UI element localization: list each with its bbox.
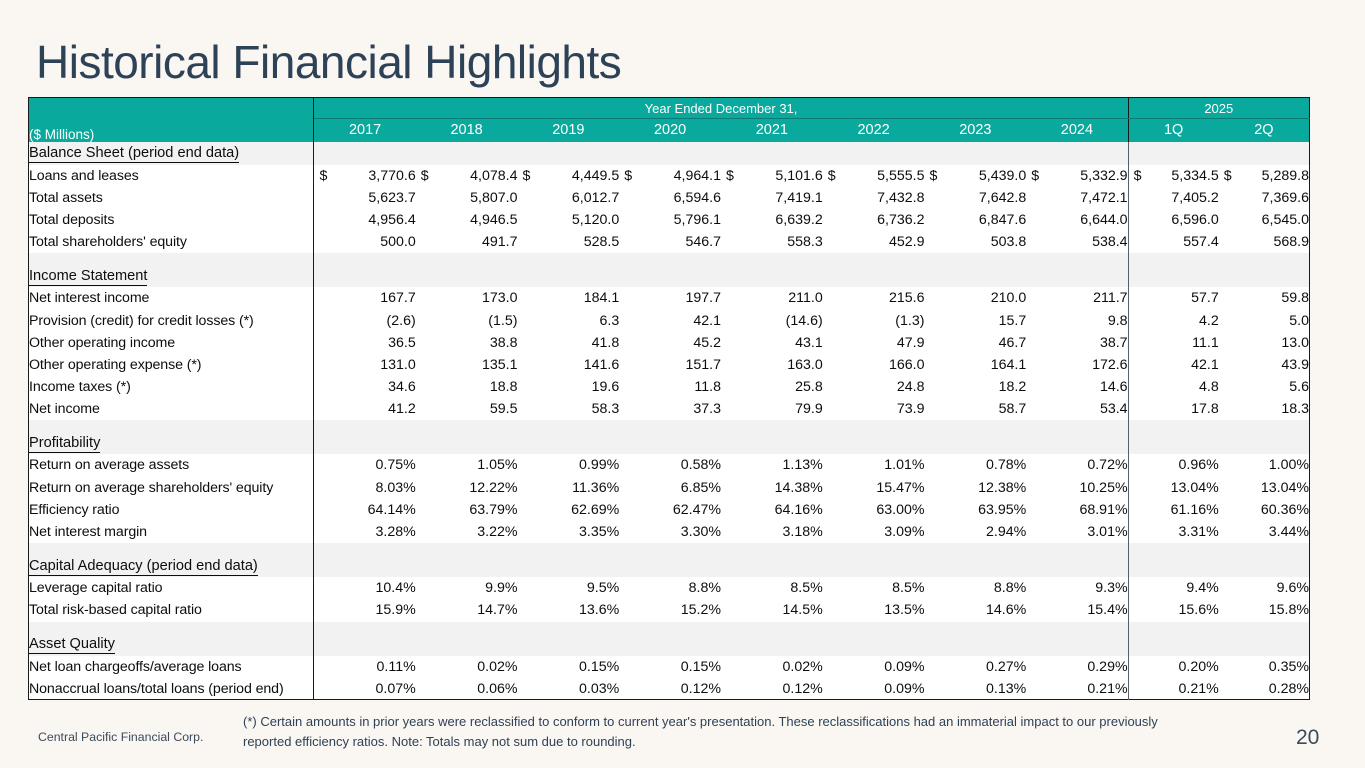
table-cell: 38.8 (416, 332, 518, 354)
currency-symbol: $ (1134, 168, 1142, 184)
table-cell: 10.25% (1026, 477, 1128, 499)
row-label: Net interest margin (29, 521, 314, 543)
row-label: Efficiency ratio (29, 499, 314, 521)
table-cell: (1.5) (416, 309, 518, 331)
table-cell: 0.02% (416, 656, 518, 678)
section-heading-cell (823, 431, 925, 454)
table-cell: 79.9 (721, 398, 823, 420)
table-cell: 0.15% (619, 656, 721, 678)
table-row: Net interest income167.7173.0184.1197.72… (29, 287, 1310, 309)
header-group-quarters: 2025 (1128, 98, 1309, 119)
section-heading-cell (1219, 431, 1310, 454)
table-cell: 43.1 (721, 332, 823, 354)
section-heading-row: Capital Adequacy (period end data) (29, 554, 1310, 577)
row-label: Total shareholders' equity (29, 231, 314, 253)
table-cell: 0.58% (619, 454, 721, 476)
section-heading-label: Income Statement (29, 264, 314, 287)
table-cell: 546.7 (619, 231, 721, 253)
table-cell: 8.8% (924, 577, 1026, 599)
section-heading-cell (619, 554, 721, 577)
table-cell: 4,946.5 (416, 209, 518, 231)
spacer-cell (1219, 622, 1310, 633)
table-cell: 14.6 (1026, 376, 1128, 398)
section-heading-cell (517, 142, 619, 165)
table-cell: 503.8 (924, 231, 1026, 253)
table-cell: 9.4% (1128, 577, 1219, 599)
table-cell: 9.8 (1026, 309, 1128, 331)
spacer-label-cell (29, 622, 314, 633)
section-heading-cell (721, 554, 823, 577)
section-heading-cell (1026, 142, 1128, 165)
spacer-cell (924, 253, 1026, 264)
financial-highlights-table: Year Ended December 31,2025 ($ Millions)… (28, 97, 1310, 700)
table-row: Total shareholders' equity500.0491.7528.… (29, 231, 1310, 253)
table-cell: 215.6 (823, 287, 925, 309)
spacer-cell (721, 622, 823, 633)
section-heading-cell (314, 142, 416, 165)
table-cell: 500.0 (314, 231, 416, 253)
table-cell: 15.7 (924, 309, 1026, 331)
table-cell: 42.1 (1128, 354, 1219, 376)
table-cell: 41.2 (314, 398, 416, 420)
spacer-cell (416, 622, 518, 633)
table-cell: 0.06% (416, 678, 518, 700)
table-cell: 1.00% (1219, 454, 1310, 476)
table-cell: 0.09% (823, 678, 925, 700)
table-cell: 538.4 (1026, 231, 1128, 253)
table-cell: 46.7 (924, 332, 1026, 354)
section-heading-cell (1128, 633, 1219, 656)
table-cell: 18.3 (1219, 398, 1310, 420)
spacer-cell (823, 543, 925, 554)
table-cell: 173.0 (416, 287, 518, 309)
section-heading-cell (314, 431, 416, 454)
table-cell: 0.09% (823, 656, 925, 678)
table-cell: 528.5 (517, 231, 619, 253)
table-cell: 2.94% (924, 521, 1026, 543)
table-cell: 15.4% (1026, 599, 1128, 621)
table-cell: 163.0 (721, 354, 823, 376)
spacer-cell (619, 253, 721, 264)
table-cell: 0.99% (517, 454, 619, 476)
table-cell: 64.16% (721, 499, 823, 521)
table-cell: 42.1 (619, 309, 721, 331)
table-cell: 4.2 (1128, 309, 1219, 331)
section-heading-label: Asset Quality (29, 633, 314, 656)
table-cell: 73.9 (823, 398, 925, 420)
table-cell: 64.14% (314, 499, 416, 521)
table-cell: 568.9 (1219, 231, 1310, 253)
header-column-row: ($ Millions)2017201820192020202120222023… (29, 119, 1310, 142)
table-cell: $5,289.8 (1219, 165, 1310, 187)
currency-symbol: $ (726, 168, 734, 184)
table-cell: 11.36% (517, 477, 619, 499)
table-row: Total assets5,623.75,807.06,012.76,594.6… (29, 187, 1310, 209)
table-cell: 8.5% (823, 577, 925, 599)
spacer-cell (517, 253, 619, 264)
table-cell: 0.21% (1026, 678, 1128, 700)
table-cell: 18.8 (416, 376, 518, 398)
table-cell: 3.09% (823, 521, 925, 543)
table-cell: 210.0 (924, 287, 1026, 309)
table-cell: 6,545.0 (1219, 209, 1310, 231)
spacer-cell (314, 253, 416, 264)
spacer-cell (1128, 622, 1219, 633)
table-row: Net interest margin3.28%3.22%3.35%3.30%3… (29, 521, 1310, 543)
spacer-cell (517, 543, 619, 554)
section-heading-cell (721, 142, 823, 165)
section-heading-cell (416, 633, 518, 656)
section-heading-cell (619, 633, 721, 656)
spacer-cell (619, 420, 721, 431)
table-cell: 0.20% (1128, 656, 1219, 678)
spacer-cell (1026, 420, 1128, 431)
table-cell: 62.69% (517, 499, 619, 521)
column-header-2018: 2018 (416, 119, 518, 142)
section-heading-cell (823, 633, 925, 656)
table-cell: 43.9 (1219, 354, 1310, 376)
section-heading-cell (924, 633, 1026, 656)
table-cell: 211.0 (721, 287, 823, 309)
currency-symbol: $ (929, 168, 937, 184)
table-cell: 15.6% (1128, 599, 1219, 621)
table-cell: (2.6) (314, 309, 416, 331)
table-row: Provision (credit) for credit losses (*)… (29, 309, 1310, 331)
table-cell: 38.7 (1026, 332, 1128, 354)
slide-root: Historical Financial Highlights Year End… (0, 0, 1365, 768)
table-cell: 197.7 (619, 287, 721, 309)
table-cell: 0.07% (314, 678, 416, 700)
table-cell: 13.5% (823, 599, 925, 621)
table-cell: 13.04% (1128, 477, 1219, 499)
table-cell: 17.8 (1128, 398, 1219, 420)
table-cell: 15.8% (1219, 599, 1310, 621)
section-heading-cell (1219, 142, 1310, 165)
table-cell: $5,101.6 (721, 165, 823, 187)
section-heading-cell (416, 431, 518, 454)
section-heading-cell (1128, 264, 1219, 287)
table-cell: 7,419.1 (721, 187, 823, 209)
spacer-cell (823, 622, 925, 633)
table-cell: 5,796.1 (619, 209, 721, 231)
table-row: Efficiency ratio64.14%63.79%62.69%62.47%… (29, 499, 1310, 521)
table-cell: 8.03% (314, 477, 416, 499)
table-cell: 151.7 (619, 354, 721, 376)
section-heading-cell (721, 633, 823, 656)
table-cell: 25.8 (721, 376, 823, 398)
spacer-label-cell (29, 253, 314, 264)
section-heading-row: Profitability (29, 431, 1310, 454)
spacer-cell (416, 253, 518, 264)
column-header-2017: 2017 (314, 119, 416, 142)
row-label: Net income (29, 398, 314, 420)
section-heading-cell (416, 142, 518, 165)
spacer-cell (314, 420, 416, 431)
table-cell: 63.79% (416, 499, 518, 521)
spacer-cell (1128, 253, 1219, 264)
table-cell: 0.35% (1219, 656, 1310, 678)
section-heading-row: Income Statement (29, 264, 1310, 287)
table-cell: 15.9% (314, 599, 416, 621)
spacer-cell (314, 622, 416, 633)
table-cell: 59.5 (416, 398, 518, 420)
spacer-cell (721, 543, 823, 554)
table-cell: 14.7% (416, 599, 518, 621)
table-cell: 0.11% (314, 656, 416, 678)
row-label: Income taxes (*) (29, 376, 314, 398)
table-cell: 1.05% (416, 454, 518, 476)
table-cell: 0.78% (924, 454, 1026, 476)
section-heading-cell (823, 554, 925, 577)
row-label: Leverage capital ratio (29, 577, 314, 599)
table-row: Net income41.259.558.337.379.973.958.753… (29, 398, 1310, 420)
section-heading-cell (416, 264, 518, 287)
row-label: Total deposits (29, 209, 314, 231)
table-cell: 6,736.2 (823, 209, 925, 231)
table-cell: $5,334.5 (1128, 165, 1219, 187)
table-cell: 0.12% (619, 678, 721, 700)
table-cell: 6,644.0 (1026, 209, 1128, 231)
spacer-cell (619, 622, 721, 633)
table-cell: 166.0 (823, 354, 925, 376)
table-cell: 14.6% (924, 599, 1026, 621)
table-cell: 0.75% (314, 454, 416, 476)
section-heading-cell (924, 431, 1026, 454)
table-row: Leverage capital ratio10.4%9.9%9.5%8.8%8… (29, 577, 1310, 599)
table-cell: 1.01% (823, 454, 925, 476)
table-cell: 8.5% (721, 577, 823, 599)
table-cell: 58.7 (924, 398, 1026, 420)
section-heading-cell (517, 554, 619, 577)
spacer-cell (517, 622, 619, 633)
table-cell: 10.4% (314, 577, 416, 599)
footnote-text: (*) Certain amounts in prior years were … (243, 712, 1173, 752)
spacer-cell (1026, 622, 1128, 633)
section-spacer-row (29, 622, 1310, 633)
section-heading-cell (924, 554, 1026, 577)
table-cell: 0.12% (721, 678, 823, 700)
table-cell: $5,439.0 (924, 165, 1026, 187)
currency-symbol: $ (1031, 168, 1039, 184)
table-row: Income taxes (*)34.618.819.611.825.824.8… (29, 376, 1310, 398)
section-heading-cell (823, 264, 925, 287)
spacer-cell (1219, 253, 1310, 264)
table-cell: $4,964.1 (619, 165, 721, 187)
table-cell: $5,555.5 (823, 165, 925, 187)
table-cell: 41.8 (517, 332, 619, 354)
table-cell: 63.95% (924, 499, 1026, 521)
table-cell: 11.1 (1128, 332, 1219, 354)
table-cell: 13.04% (1219, 477, 1310, 499)
page-number: 20 (1296, 726, 1319, 750)
spacer-cell (314, 543, 416, 554)
table-cell: 0.28% (1219, 678, 1310, 700)
table-cell: 58.3 (517, 398, 619, 420)
section-heading-cell (416, 554, 518, 577)
table-cell: 6,594.6 (619, 187, 721, 209)
row-label: Nonaccrual loans/total loans (period end… (29, 678, 314, 700)
table-row: Return on average assets0.75%1.05%0.99%0… (29, 454, 1310, 476)
column-header-2022: 2022 (823, 119, 925, 142)
section-heading-cell (1128, 554, 1219, 577)
row-label: Total assets (29, 187, 314, 209)
section-heading-cell (1219, 554, 1310, 577)
section-heading-cell (1026, 554, 1128, 577)
table-cell: 45.2 (619, 332, 721, 354)
table-cell: 5.0 (1219, 309, 1310, 331)
section-heading-cell (619, 431, 721, 454)
spacer-cell (1128, 543, 1219, 554)
table-cell: 18.2 (924, 376, 1026, 398)
section-spacer-row (29, 543, 1310, 554)
table-cell: 62.47% (619, 499, 721, 521)
table-cell: 13.6% (517, 599, 619, 621)
table-cell: 141.6 (517, 354, 619, 376)
table-cell: 3.22% (416, 521, 518, 543)
table-cell: 34.6 (314, 376, 416, 398)
table-cell: 4,956.4 (314, 209, 416, 231)
table-cell: 491.7 (416, 231, 518, 253)
section-heading-cell (1026, 633, 1128, 656)
currency-symbol: $ (522, 168, 530, 184)
section-heading-row: Balance Sheet (period end data) (29, 142, 1310, 165)
table-cell: 14.38% (721, 477, 823, 499)
header-group-years: Year Ended December 31, (314, 98, 1128, 119)
table-cell: 0.96% (1128, 454, 1219, 476)
section-heading-label: Balance Sheet (period end data) (29, 142, 314, 165)
currency-symbol: $ (1224, 168, 1232, 184)
table-cell: 0.29% (1026, 656, 1128, 678)
table-cell: 6,012.7 (517, 187, 619, 209)
currency-symbol: $ (624, 168, 632, 184)
table-row: Return on average shareholders' equity8.… (29, 477, 1310, 499)
table-cell: 131.0 (314, 354, 416, 376)
spacer-cell (1128, 420, 1219, 431)
spacer-cell (416, 543, 518, 554)
table-cell: 3.28% (314, 521, 416, 543)
section-heading-cell (1026, 264, 1128, 287)
section-heading-cell (823, 142, 925, 165)
header-unit-label: ($ Millions) (29, 119, 314, 142)
section-heading-label: Capital Adequacy (period end data) (29, 554, 314, 577)
table-cell: 3.35% (517, 521, 619, 543)
section-heading-cell (517, 633, 619, 656)
column-header-2023: 2023 (924, 119, 1026, 142)
table-cell: 452.9 (823, 231, 925, 253)
table-cell: 5,807.0 (416, 187, 518, 209)
table-cell: 11.8 (619, 376, 721, 398)
table-cell: 0.13% (924, 678, 1026, 700)
table-cell: 61.16% (1128, 499, 1219, 521)
table-cell: 3.31% (1128, 521, 1219, 543)
table-row: Net loan chargeoffs/average loans0.11%0.… (29, 656, 1310, 678)
table-cell: 9.6% (1219, 577, 1310, 599)
table-cell: 47.9 (823, 332, 925, 354)
column-header-1q: 1Q (1128, 119, 1219, 142)
table-body: Balance Sheet (period end data)Loans and… (29, 142, 1310, 700)
section-spacer-row (29, 420, 1310, 431)
table-cell: 7,642.8 (924, 187, 1026, 209)
table-cell: 12.38% (924, 477, 1026, 499)
table-cell: 6,596.0 (1128, 209, 1219, 231)
section-heading-label: Profitability (29, 431, 314, 454)
row-label: Net interest income (29, 287, 314, 309)
section-heading-cell (619, 142, 721, 165)
spacer-cell (1219, 543, 1310, 554)
table-cell: $4,449.5 (517, 165, 619, 187)
table-cell: 24.8 (823, 376, 925, 398)
row-label: Loans and leases (29, 165, 314, 187)
table-cell: 3.44% (1219, 521, 1310, 543)
table-cell: 63.00% (823, 499, 925, 521)
table-cell: 5.6 (1219, 376, 1310, 398)
table-cell: 558.3 (721, 231, 823, 253)
header-group-row: Year Ended December 31,2025 (29, 98, 1310, 119)
table-cell: 14.5% (721, 599, 823, 621)
row-label: Return on average assets (29, 454, 314, 476)
section-heading-cell (924, 264, 1026, 287)
spacer-cell (619, 543, 721, 554)
table-cell: (1.3) (823, 309, 925, 331)
table-cell: 19.6 (517, 376, 619, 398)
table-cell: 0.21% (1128, 678, 1219, 700)
table-cell: 9.9% (416, 577, 518, 599)
spacer-cell (1026, 543, 1128, 554)
currency-symbol: $ (421, 168, 429, 184)
spacer-label-cell (29, 420, 314, 431)
table-cell: 135.1 (416, 354, 518, 376)
table-cell: 57.7 (1128, 287, 1219, 309)
table-cell: 5,623.7 (314, 187, 416, 209)
spacer-cell (924, 622, 1026, 633)
row-label: Return on average shareholders' equity (29, 477, 314, 499)
table-row: Total deposits4,956.44,946.55,120.05,796… (29, 209, 1310, 231)
table-row: Other operating expense (*)131.0135.1141… (29, 354, 1310, 376)
table-cell: 6.3 (517, 309, 619, 331)
section-spacer-row (29, 253, 1310, 264)
row-label: Other operating expense (*) (29, 354, 314, 376)
table-cell: 184.1 (517, 287, 619, 309)
table-cell: 9.3% (1026, 577, 1128, 599)
table-cell: 7,369.6 (1219, 187, 1310, 209)
table-header: Year Ended December 31,2025 ($ Millions)… (29, 98, 1310, 142)
spacer-cell (924, 420, 1026, 431)
table-cell: 0.15% (517, 656, 619, 678)
spacer-cell (1219, 420, 1310, 431)
page-title: Historical Financial Highlights (36, 38, 621, 86)
table-cell: 3.01% (1026, 521, 1128, 543)
spacer-label-cell (29, 543, 314, 554)
table-cell: 7,432.8 (823, 187, 925, 209)
spacer-cell (416, 420, 518, 431)
currency-symbol: $ (319, 168, 327, 184)
spacer-cell (1026, 253, 1128, 264)
table-cell: 15.2% (619, 599, 721, 621)
table-cell: 36.5 (314, 332, 416, 354)
section-heading-cell (314, 633, 416, 656)
table-cell: 8.8% (619, 577, 721, 599)
section-heading-cell (1128, 142, 1219, 165)
section-heading-cell (1219, 264, 1310, 287)
column-header-2021: 2021 (721, 119, 823, 142)
table-cell: 0.02% (721, 656, 823, 678)
row-label: Net loan chargeoffs/average loans (29, 656, 314, 678)
table-cell: 4.8 (1128, 376, 1219, 398)
footer-company-name: Central Pacific Financial Corp. (38, 730, 203, 744)
column-header-2020: 2020 (619, 119, 721, 142)
table-cell: 7,472.1 (1026, 187, 1128, 209)
table-cell: 172.6 (1026, 354, 1128, 376)
